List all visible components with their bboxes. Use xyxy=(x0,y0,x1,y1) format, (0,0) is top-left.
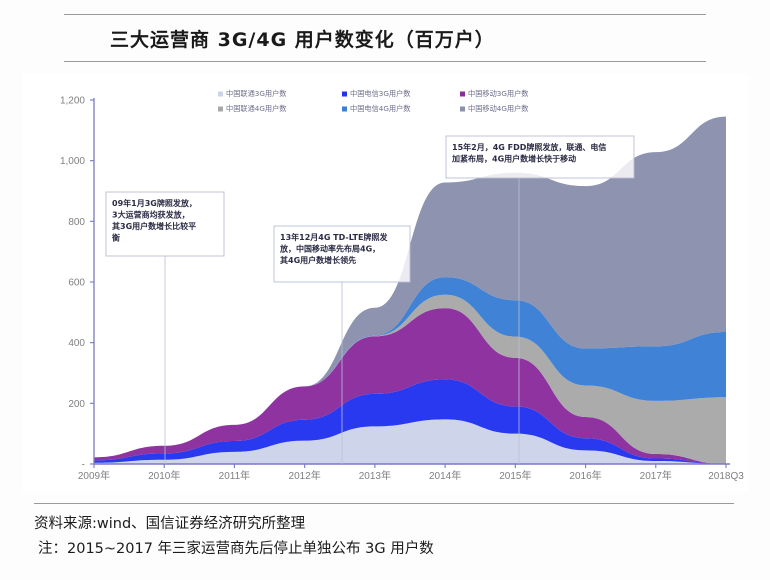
x-tick-label-3: 2012年 xyxy=(289,469,321,482)
callout-2009-line-0: 09年1月3G牌照发放， xyxy=(112,198,197,208)
x-tick-label-4: 2013年 xyxy=(359,469,391,482)
legend-label-2: 中国移动3G用户数 xyxy=(468,89,528,98)
legend-label-5: 中国移动4G用户数 xyxy=(468,104,528,113)
x-tick-label-0: 2009年 xyxy=(78,469,110,482)
x-tick-label-2: 2011年 xyxy=(219,469,251,482)
source-line: 资料来源:wind、国信证券经济研究所整理 xyxy=(34,512,734,537)
y-tick-label-5: 1,000 xyxy=(60,156,85,167)
legend-swatch-4 xyxy=(342,107,347,112)
chart-footer: 资料来源:wind、国信证券经济研究所整理 注：2015~2017 年三家运营商… xyxy=(34,503,734,562)
x-tick-label-7: 2016年 xyxy=(569,469,601,482)
stacked-area-chart: -2004006008001,0001,200 2009年2010年2011年2… xyxy=(22,74,748,492)
note-line: 注：2015~2017 年三家运营商先后停止单独公布 3G 用户数 xyxy=(34,537,734,562)
legend-label-1: 中国电信3G用户数 xyxy=(350,89,410,98)
x-tick-label-8: 2017年 xyxy=(640,469,672,482)
page-title: 三大运营商 3G/4G 用户数变化（百万户） xyxy=(64,25,495,52)
callout-2013-line-1: 放，中国移动率先布局4G， xyxy=(279,244,380,254)
y-tick-label-6: 1,200 xyxy=(60,96,85,107)
callout-2009-line-2: 其3G用户数增长比较平 xyxy=(112,221,196,231)
callout-2013-line-0: 13年12月4G TD-LTE牌照发 xyxy=(280,232,388,242)
chart-title-band: 三大运营商 3G/4G 用户数变化（百万户） xyxy=(64,14,706,62)
legend-label-4: 中国电信4G用户数 xyxy=(350,104,410,113)
chart-page: 三大运营商 3G/4G 用户数变化（百万户） -2004006008001,00… xyxy=(0,0,770,580)
callout-2015-line-1: 加紧布局，4G用户数增长快于移动 xyxy=(451,154,576,164)
x-tick-label-6: 2015年 xyxy=(499,469,531,482)
legend-label-0: 中国联通3G用户数 xyxy=(226,89,286,98)
legend-swatch-0 xyxy=(218,92,223,97)
legend-swatch-2 xyxy=(460,92,465,97)
callout-2013-line-2: 其4G用户数增长领先 xyxy=(280,255,356,265)
y-tick-label-2: 400 xyxy=(68,338,85,349)
chart-container: -2004006008001,0001,200 2009年2010年2011年2… xyxy=(22,74,748,492)
x-tick-label-5: 2014年 xyxy=(429,469,461,482)
legend-label-3: 中国联通4G用户数 xyxy=(226,104,286,113)
legend-swatch-3 xyxy=(218,107,223,112)
legend-swatch-5 xyxy=(460,107,465,112)
callout-2015-line-0: 15年2月，4G FDD牌照发放，联通、电信 xyxy=(452,142,606,152)
y-tick-label-4: 800 xyxy=(68,217,85,228)
callout-2009-line-1: 3大运营商均获发放， xyxy=(112,210,190,220)
callout-2009-line-3: 衡 xyxy=(112,233,120,243)
y-tick-label-1: 200 xyxy=(68,399,85,410)
legend-swatch-1 xyxy=(342,92,347,97)
y-tick-label-3: 600 xyxy=(68,278,85,289)
y-tick-label-0: - xyxy=(82,460,85,471)
x-tick-label-9: 2018Q3 xyxy=(708,471,744,482)
x-tick-label-1: 2010年 xyxy=(148,469,180,482)
